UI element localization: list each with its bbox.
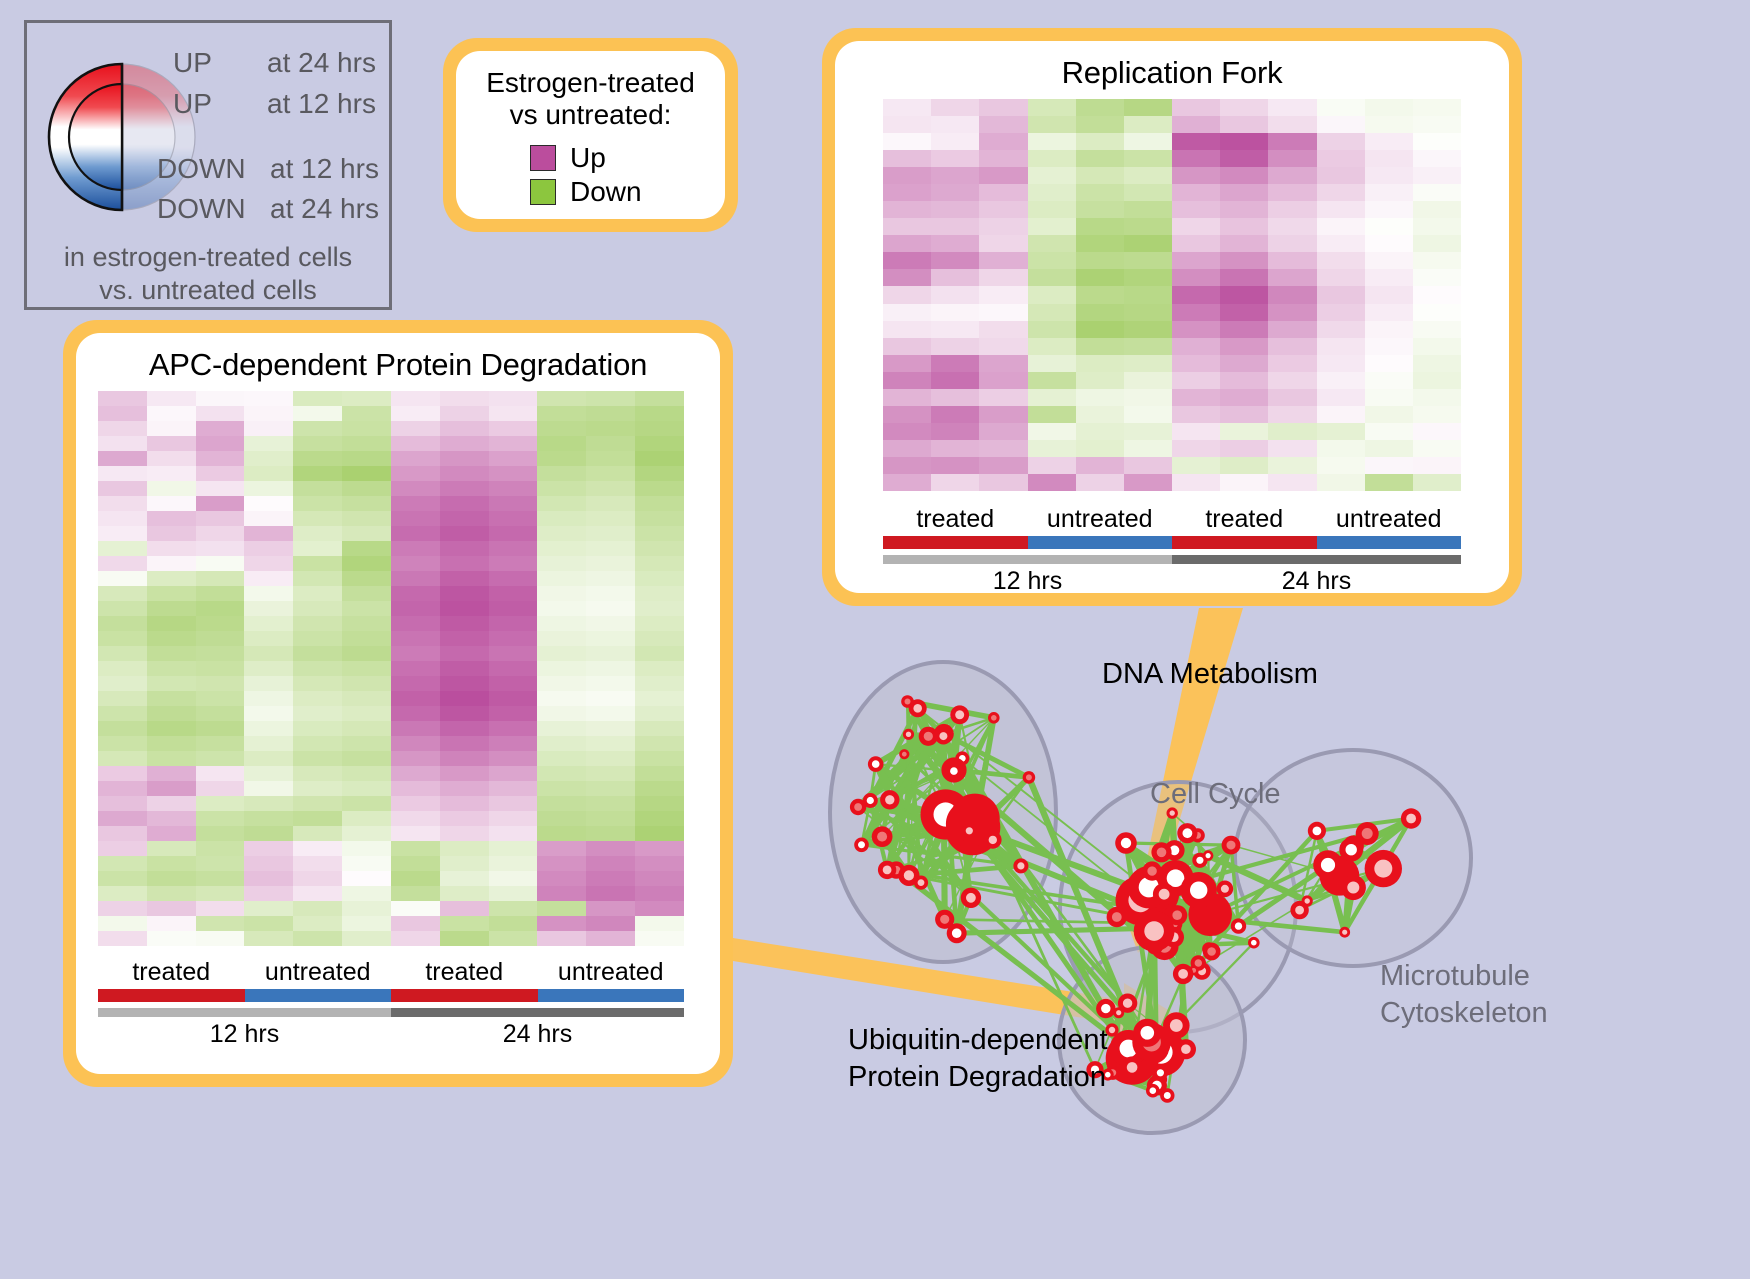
heatmap-cell (979, 150, 1027, 167)
network-node[interactable] (1365, 850, 1402, 887)
heatmap-cell (440, 856, 489, 871)
network-node[interactable] (962, 823, 977, 838)
heatmap-cell (98, 721, 147, 736)
heatmap-cell (1172, 269, 1220, 286)
network-node[interactable] (935, 728, 952, 745)
network-node[interactable] (878, 861, 896, 879)
heatmap-cell (293, 556, 342, 571)
heatmap-cell (1365, 269, 1413, 286)
heatmap-cell (147, 421, 196, 436)
heatmap-cell (342, 616, 391, 631)
heatmap-cell (98, 526, 147, 541)
heatmap-cell (244, 706, 293, 721)
heatmap-cell (1172, 201, 1220, 218)
heatmap-cell (440, 931, 489, 946)
heatmap-cell (1028, 218, 1076, 235)
heatmap-cell (147, 511, 196, 526)
heatmap-cell (1172, 338, 1220, 355)
heatmap-body-apc-dependent: treated untreated treated untreated 12 h… (98, 391, 684, 1049)
heatmap-cell (883, 372, 931, 389)
heatmap-cell (489, 871, 538, 886)
heatmap-cell (1365, 133, 1413, 150)
heatmap-cell (440, 751, 489, 766)
heatmap-cell (1365, 372, 1413, 389)
heatmap-cell (635, 496, 684, 511)
heatmap-cell (440, 466, 489, 481)
heatmap-cell (244, 796, 293, 811)
heatmap-cell (1076, 338, 1124, 355)
condition-label: untreated (538, 958, 685, 987)
heatmap-cell (342, 556, 391, 571)
network-node[interactable] (1217, 881, 1234, 898)
network-node-core (885, 795, 894, 804)
heatmap-cell (1365, 406, 1413, 423)
network-node[interactable] (872, 826, 893, 847)
heatmap-cell (440, 406, 489, 421)
heatmap-cell (1268, 389, 1316, 406)
network-node[interactable] (988, 712, 1000, 724)
network-node[interactable] (1134, 911, 1175, 952)
heatmap-cell (1365, 355, 1413, 372)
network-node[interactable] (1302, 895, 1313, 906)
heatmap-cell (1028, 116, 1076, 133)
key-footer-line1: in estrogen-treated cells (27, 241, 389, 274)
network-node[interactable] (1313, 850, 1343, 880)
heatmap-cell (1028, 201, 1076, 218)
heatmap-cell (1413, 474, 1461, 491)
heatmap-cell (98, 646, 147, 661)
network-node[interactable] (950, 705, 969, 724)
heatmap-cell (147, 541, 196, 556)
heatmap-cell (1076, 116, 1124, 133)
key-row-up-24-label: UP (173, 47, 212, 79)
heatmap-cell (979, 355, 1027, 372)
key-row-up-12-label: UP (173, 88, 212, 120)
heatmap-cell (440, 691, 489, 706)
heatmap-cell (635, 931, 684, 946)
network-node[interactable] (961, 888, 981, 908)
network-node-core (1235, 922, 1242, 929)
condition-labels-apc-dependent: treated untreated treated untreated (98, 958, 684, 987)
heatmap-cell (1076, 269, 1124, 286)
legend-item-down: Down (530, 176, 725, 208)
heatmap-cell (1028, 99, 1076, 116)
network-node[interactable] (1115, 832, 1137, 854)
heatmap-cell (196, 436, 245, 451)
heatmap-cell (1317, 218, 1365, 235)
heatmap-cell (586, 571, 635, 586)
heatmap-cell (342, 871, 391, 886)
heatmap-cell (537, 466, 586, 481)
heatmap-cell (1365, 423, 1413, 440)
heatmap-cell (391, 466, 440, 481)
network-node[interactable] (1231, 918, 1246, 933)
heatmap-cell (196, 421, 245, 436)
network-node-core (1157, 848, 1167, 858)
heatmap-cell (1317, 133, 1365, 150)
heatmap-cell (1317, 389, 1365, 406)
heatmap-cell (98, 811, 147, 826)
heatmap-cell (489, 481, 538, 496)
network-node-core (1406, 814, 1416, 824)
heatmap-cell (489, 406, 538, 421)
heatmap-cell (489, 676, 538, 691)
heatmap-cell (1124, 474, 1172, 491)
network-node[interactable] (1160, 1088, 1174, 1102)
network-node[interactable] (1151, 842, 1171, 862)
heatmap-cell (342, 586, 391, 601)
heatmap-cell (147, 616, 196, 631)
heatmap-cell (537, 781, 586, 796)
network-node-core (913, 704, 922, 713)
heatmap-cell (196, 556, 245, 571)
network-node[interactable] (1107, 907, 1127, 927)
heatmap-cell (1076, 167, 1124, 184)
network-node[interactable] (1222, 836, 1241, 855)
network-node[interactable] (1013, 858, 1028, 873)
heatmap-cell (391, 541, 440, 556)
heatmap-cell (391, 751, 440, 766)
network-node[interactable] (1176, 1039, 1196, 1059)
heatmap-cell (537, 646, 586, 661)
heatmap-cell (635, 526, 684, 541)
heatmap-cell (1124, 286, 1172, 303)
heatmap-cell (293, 691, 342, 706)
key-box: UP at 24 hrs UP at 12 hrs DOWN at 12 hrs… (24, 20, 392, 310)
heatmap-cell (931, 116, 979, 133)
network-node[interactable] (1181, 872, 1217, 908)
heatmap-cell (342, 406, 391, 421)
network-node[interactable] (899, 749, 909, 759)
heatmap-cell (342, 391, 391, 406)
heatmap-cell (98, 616, 147, 631)
heatmap-cell (342, 721, 391, 736)
heatmap-cell (1268, 99, 1316, 116)
heatmap-cell (635, 616, 684, 631)
network-node[interactable] (903, 729, 914, 740)
legend-heading-line2: vs untreated: (456, 99, 725, 131)
heatmap-cell (1365, 457, 1413, 474)
network-node-core (950, 767, 958, 775)
heatmap-cell (1317, 184, 1365, 201)
heatmap-cell (342, 796, 391, 811)
heatmap-cell (196, 406, 245, 421)
network-node[interactable] (947, 923, 967, 943)
heatmap-cell (1268, 235, 1316, 252)
heatmap-cell (635, 661, 684, 676)
time-labels-apc-dependent: 12 hrs 24 hrs (98, 1020, 684, 1049)
heatmap-cell (1172, 423, 1220, 440)
network-node[interactable] (1118, 994, 1137, 1013)
network-node-core (966, 893, 976, 903)
heatmap-cell (196, 826, 245, 841)
heatmap-cell (244, 766, 293, 781)
network-node[interactable] (898, 865, 919, 886)
heatmap-cell (440, 451, 489, 466)
condition-bar-segment (1172, 536, 1317, 549)
heatmap-cell (293, 571, 342, 586)
time-label: 12 hrs (883, 567, 1172, 596)
time-bar-segment (391, 1008, 684, 1017)
heatmap-cell (1220, 201, 1268, 218)
heatmap-cell (1413, 440, 1461, 457)
heatmap-cell (1076, 184, 1124, 201)
heatmap-cell (98, 916, 147, 931)
heatmap-cell (931, 372, 979, 389)
network-node[interactable] (946, 763, 962, 779)
heatmap-cell (1076, 304, 1124, 321)
key-row-down-24-label: DOWN (157, 193, 246, 225)
heatmap-cell (342, 751, 391, 766)
heatmap-cell (1413, 321, 1461, 338)
heatmap-cell (391, 691, 440, 706)
heatmap-cell (440, 661, 489, 676)
heatmap-cell (342, 901, 391, 916)
heatmap-cell (391, 631, 440, 646)
network-node[interactable] (850, 799, 866, 815)
heatmap-cell (489, 811, 538, 826)
network-node-core (1374, 860, 1392, 878)
heatmap-cell (931, 150, 979, 167)
heatmap-cell (391, 856, 440, 871)
network-node-core (939, 732, 947, 740)
cluster-label-ubiquitin-line2: Protein Degradation (848, 1061, 1106, 1094)
heatmap-cell (440, 886, 489, 901)
heatmap-cell (1268, 116, 1316, 133)
heatmap-cell (1413, 99, 1461, 116)
heatmap-cell (244, 871, 293, 886)
network-node-core (940, 915, 949, 924)
network-diagram: DNA Metabolism Cell Cycle Microtubule Cy… (780, 600, 1740, 1275)
heatmap-cell (1172, 389, 1220, 406)
heatmap-cell (586, 886, 635, 901)
cluster-label-dna-metabolism: DNA Metabolism (1102, 658, 1318, 691)
heatmap-cell (293, 841, 342, 856)
condition-bar-segment (1028, 536, 1173, 549)
heatmap-cell (98, 481, 147, 496)
network-node-core (1221, 885, 1229, 893)
heatmap-cell (391, 781, 440, 796)
network-node[interactable] (880, 790, 899, 809)
heatmap-cell (1317, 406, 1365, 423)
heatmap-cell (147, 916, 196, 931)
heatmap-cell (586, 466, 635, 481)
key-row-down-12-time: at 12 hrs (270, 153, 379, 185)
heatmap-cell (98, 661, 147, 676)
heatmap-cell (586, 496, 635, 511)
heatmap-cell (293, 826, 342, 841)
key-row-down-24-time: at 24 hrs (270, 193, 379, 225)
network-node[interactable] (1121, 1056, 1143, 1078)
heatmap-cell (1365, 252, 1413, 269)
heatmap-cell (489, 781, 538, 796)
heatmap-cell (391, 511, 440, 526)
heatmap-cell (931, 286, 979, 303)
heatmap-cell (489, 466, 538, 481)
network-node[interactable] (1142, 861, 1161, 880)
heatmap-cell (537, 706, 586, 721)
key-footer-line2: vs. untreated cells (27, 274, 389, 307)
heatmap-cell (147, 631, 196, 646)
heatmap-cell (931, 389, 979, 406)
panel-title-replication-fork: Replication Fork (835, 41, 1509, 91)
heatmap-cell (98, 496, 147, 511)
heatmap-cell (931, 457, 979, 474)
heatmap-cell (196, 646, 245, 661)
heatmap-cell (635, 586, 684, 601)
heatmap-cell (98, 631, 147, 646)
heatmap-cell (1076, 355, 1124, 372)
heatmap-cell (1172, 286, 1220, 303)
heatmap-cell (883, 184, 931, 201)
network-node[interactable] (1163, 1012, 1190, 1039)
heatmap-cell (1317, 116, 1365, 133)
network-node-core (1195, 959, 1202, 966)
network-node[interactable] (1177, 823, 1197, 843)
heatmap-cell (1413, 389, 1461, 406)
condition-label: treated (883, 505, 1028, 534)
heatmap-cell (98, 406, 147, 421)
network-node[interactable] (868, 756, 884, 772)
heatmap-cell (1220, 286, 1268, 303)
heatmap-cell (196, 631, 245, 646)
heatmap-cell (1172, 133, 1220, 150)
heatmap-cell (1172, 184, 1220, 201)
network-node[interactable] (1153, 1065, 1168, 1080)
network-node[interactable] (1023, 771, 1036, 784)
heatmap-cell (635, 781, 684, 796)
heatmap-cell (489, 841, 538, 856)
heatmap-cell (883, 406, 931, 423)
heatmap-cell (979, 304, 1027, 321)
heatmap-cell (293, 541, 342, 556)
network-node[interactable] (1173, 964, 1193, 984)
heatmap-cell (489, 796, 538, 811)
heatmap-cell (1365, 235, 1413, 252)
heatmap-cell (1124, 235, 1172, 252)
heatmap-cell (537, 571, 586, 586)
heatmap-cell (1365, 99, 1413, 116)
heatmap-cell (1413, 201, 1461, 218)
legend-item-up: Up (530, 142, 725, 174)
heatmap-cell (635, 451, 684, 466)
network-node[interactable] (1308, 822, 1326, 840)
heatmap-cell (244, 901, 293, 916)
heatmap-cell (537, 451, 586, 466)
heatmap-cell (342, 541, 391, 556)
network-node[interactable] (1203, 850, 1214, 861)
network-node[interactable] (1146, 1084, 1160, 1098)
heatmap-cell (293, 706, 342, 721)
network-node-core (1178, 969, 1188, 979)
network-node[interactable] (901, 695, 914, 708)
heatmap-cell (1124, 440, 1172, 457)
heatmap-cell (147, 466, 196, 481)
network-node[interactable] (984, 831, 1002, 849)
heatmap-cell (1172, 406, 1220, 423)
heatmap-cell (1124, 184, 1172, 201)
key-row-up-12-time: at 12 hrs (267, 88, 376, 120)
heatmap-cell (1076, 321, 1124, 338)
heatmap-cell (537, 886, 586, 901)
heatmap-cell (147, 796, 196, 811)
condition-labels-replication-fork: treated untreated treated untreated (883, 505, 1461, 534)
heatmap-cell (1413, 150, 1461, 167)
heatmap-cell (440, 901, 489, 916)
network-node[interactable] (1401, 808, 1421, 828)
heatmap-cell (1124, 389, 1172, 406)
heatmap-cell (586, 871, 635, 886)
network-node[interactable] (854, 838, 869, 853)
network-node-core (924, 732, 933, 741)
heatmap-cell (537, 586, 586, 601)
heatmap-cell (196, 901, 245, 916)
network-node-core (854, 803, 862, 811)
key-row-up-24-time: at 24 hrs (267, 47, 376, 79)
heatmap-cell (440, 871, 489, 886)
heatmap-cell (440, 616, 489, 631)
heatmap-cell (883, 474, 931, 491)
heatmap-cell (98, 676, 147, 691)
heatmap-cell (391, 451, 440, 466)
heatmap-cell (1365, 321, 1413, 338)
heatmap-cell (635, 766, 684, 781)
network-node-core (991, 715, 997, 721)
network-node[interactable] (1133, 1019, 1161, 1047)
heatmap-cell (537, 481, 586, 496)
time-labels-replication-fork: 12 hrs 24 hrs (883, 567, 1461, 596)
heatmap-cell (342, 781, 391, 796)
network-node[interactable] (1339, 838, 1363, 862)
heatmap-cell (1268, 321, 1316, 338)
heatmap-cell (98, 871, 147, 886)
heatmap-cell (440, 766, 489, 781)
heatmap-cell (440, 496, 489, 511)
cluster-label-cytoskeleton: Cytoskeleton (1380, 997, 1548, 1030)
heatmap-cell (1220, 474, 1268, 491)
heatmap-cell (391, 601, 440, 616)
network-node[interactable] (1248, 937, 1260, 949)
heatmap-cell (440, 796, 489, 811)
network-node-core (905, 699, 911, 705)
heatmap-cell (979, 201, 1027, 218)
heatmap-cell (1413, 406, 1461, 423)
heatmap-cell (489, 931, 538, 946)
heatmap-cell (440, 601, 489, 616)
heatmap-cell (98, 826, 147, 841)
heatmap-cell (293, 526, 342, 541)
network-node[interactable] (1096, 999, 1115, 1018)
heatmap-cell (293, 721, 342, 736)
heatmap-cell (586, 631, 635, 646)
network-node[interactable] (1153, 883, 1175, 905)
heatmap-cell (1413, 184, 1461, 201)
heatmap-cell (635, 826, 684, 841)
heatmap-cell (1268, 406, 1316, 423)
heatmap-cell (1172, 474, 1220, 491)
heatmap-cell (635, 481, 684, 496)
heatmap-cell (342, 841, 391, 856)
network-node[interactable] (1203, 943, 1221, 961)
network-node[interactable] (1339, 927, 1350, 938)
heatmap-cell (342, 466, 391, 481)
legend-heading: Estrogen-treated vs untreated: (456, 51, 725, 132)
heatmap-cell (1317, 286, 1365, 303)
network-node-core (1141, 1026, 1155, 1040)
heatmap-cell (293, 781, 342, 796)
network-node[interactable] (1341, 875, 1366, 900)
heatmap-cell (293, 796, 342, 811)
